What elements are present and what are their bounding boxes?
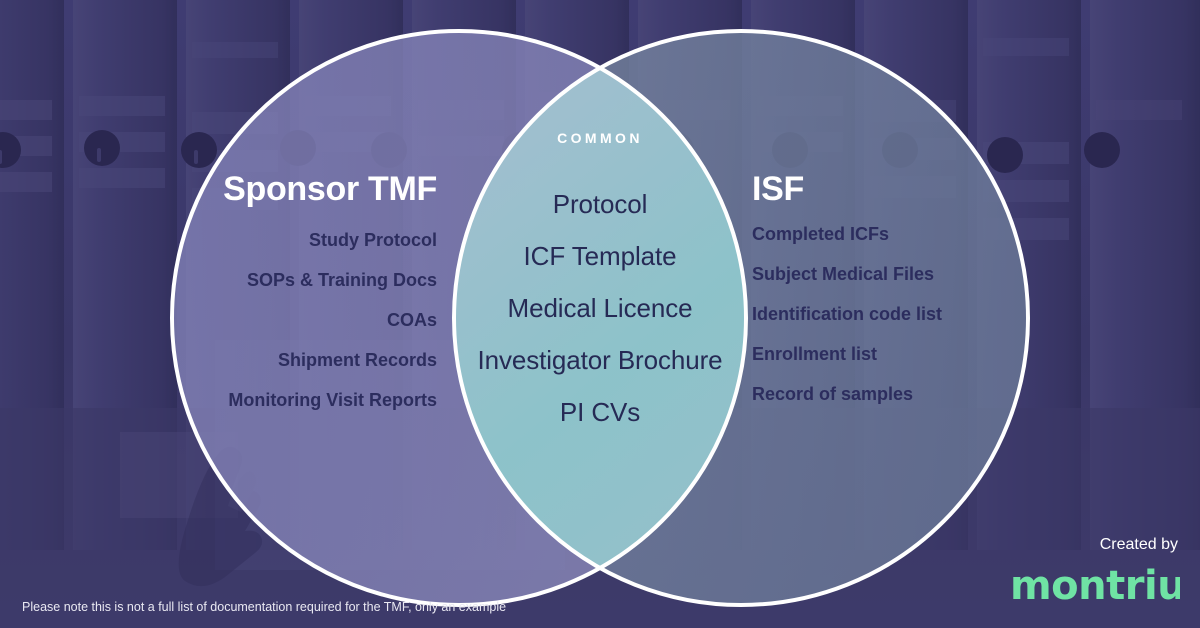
list-item: Protocol [0,178,1200,230]
list-item: Investigator Brochure [0,334,1200,386]
footnote-disclaimer: Please note this is not a full list of d… [22,600,506,614]
list-item: PI CVs [0,386,1200,438]
created-by-label: Created by [1100,536,1178,554]
list-item: ICF Template [0,230,1200,282]
common-list: Protocol ICF Template Medical Licence In… [0,178,1200,438]
montrium-logo: montrium [1010,563,1180,614]
list-item: Completed ICFs [752,214,942,254]
infographic-canvas: Sponsor TMF Study Protocol SOPs & Traini… [0,0,1200,628]
common-label: COMMON [0,130,1200,146]
list-item: Subject Medical Files [752,254,942,294]
isf-list: Completed ICFs Subject Medical Files Ide… [752,214,942,414]
montrium-logo-text: montrium [1010,563,1180,609]
list-item: Record of samples [752,374,942,414]
list-item: Medical Licence [0,282,1200,334]
isf-title: ISF [752,170,804,209]
list-item: Enrollment list [752,334,942,374]
list-item: Identification code list [752,294,942,334]
